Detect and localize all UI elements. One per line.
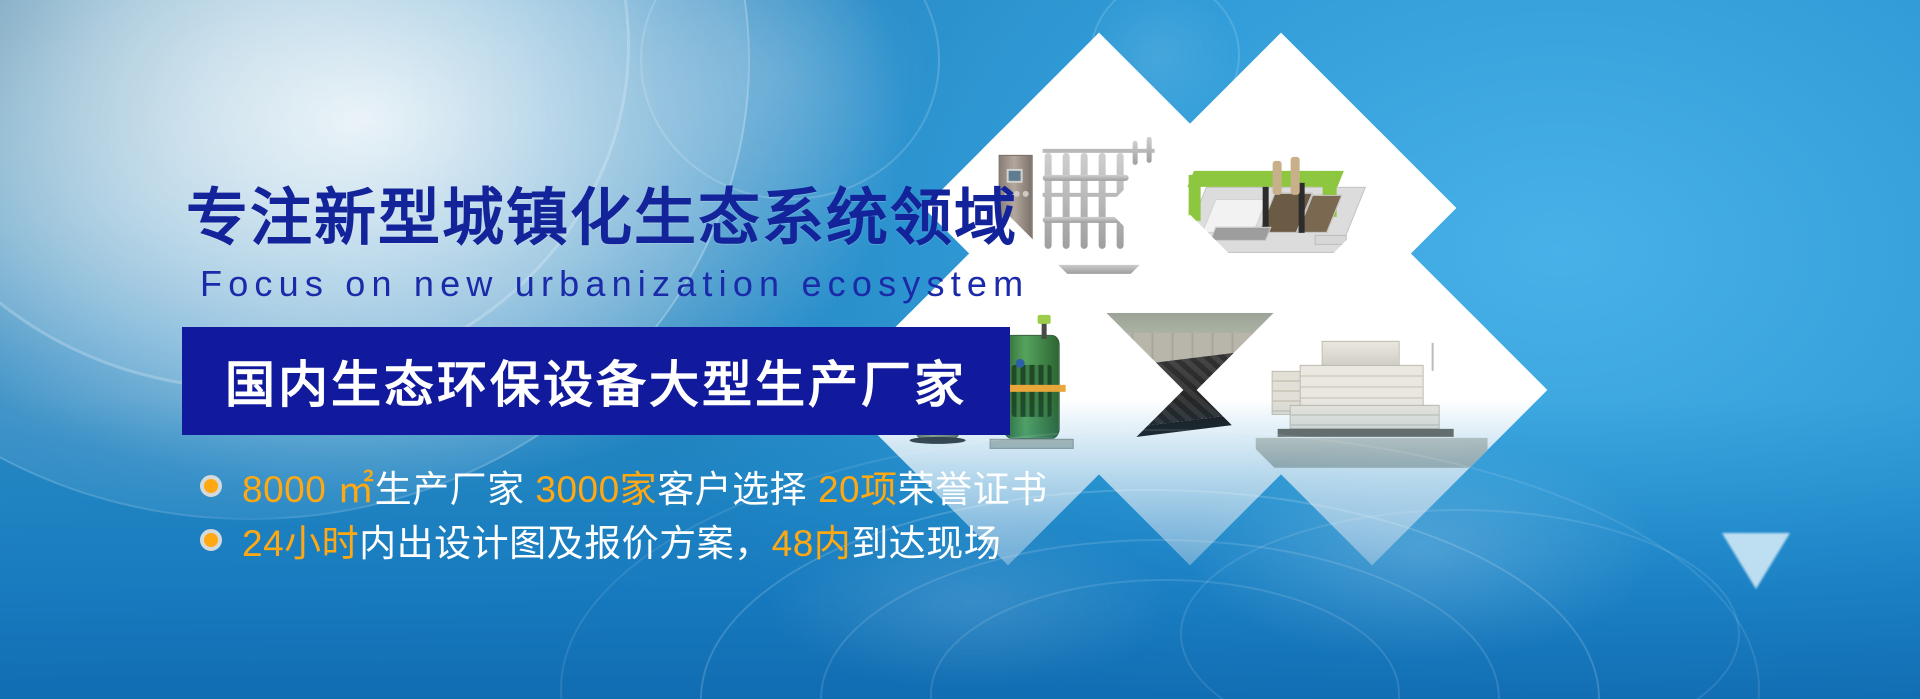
bullet-highlight-segment: 3000家 (535, 469, 657, 510)
banner-bullet-list: 8000 ㎡生产厂家 3000家客户选择 20项荣誉证书24小时内出设计图及报价… (200, 459, 1128, 567)
bubble-decoration-small (640, 0, 940, 200)
bullet-dot-icon (200, 529, 222, 551)
bullet-plain-segment: 内出设计图及报价方案， (359, 523, 772, 564)
water-droplet (1722, 533, 1790, 589)
bullet-highlight-segment: 20项 (818, 469, 898, 510)
hero-banner: 39 47 16 9 2020-07-21 (0, 0, 1920, 699)
bullet-plain-segment: 到达现场 (851, 523, 1001, 564)
bullet-text: 8000 ㎡生产厂家 3000家客户选择 20项荣誉证书 (242, 459, 1048, 513)
bullet-highlight-segment: 8000 ㎡ (242, 469, 375, 510)
banner-headline-chinese: 专注新型城镇化生态系统领域 (186, 186, 1128, 253)
bullet-plain-segment: 生产厂家 (375, 469, 536, 510)
banner-headline-english: Focus on new urbanization ecosystem (200, 263, 1128, 305)
bullet-row: 8000 ㎡生产厂家 3000家客户选择 20项荣誉证书 (200, 459, 1128, 513)
bullet-plain-segment: 荣誉证书 (898, 469, 1048, 510)
bullet-highlight-segment: 48内 (772, 523, 852, 564)
bullet-dot-icon (200, 475, 222, 497)
bullet-plain-segment: 客户选择 (657, 469, 818, 510)
bullet-text: 24小时内出设计图及报价方案，48内到达现场 (242, 513, 1001, 567)
water-splash-glow (1180, 439, 1660, 659)
bullet-row: 24小时内出设计图及报价方案，48内到达现场 (200, 513, 1128, 567)
banner-badge-text: 国内生态环保设备大型生产厂家 (225, 345, 967, 417)
banner-badge: 国内生态环保设备大型生产厂家 (182, 327, 1010, 435)
banner-text-block: 专注新型城镇化生态系统领域 Focus on new urbanization … (228, 186, 1128, 567)
bullet-highlight-segment: 24小时 (242, 523, 359, 564)
